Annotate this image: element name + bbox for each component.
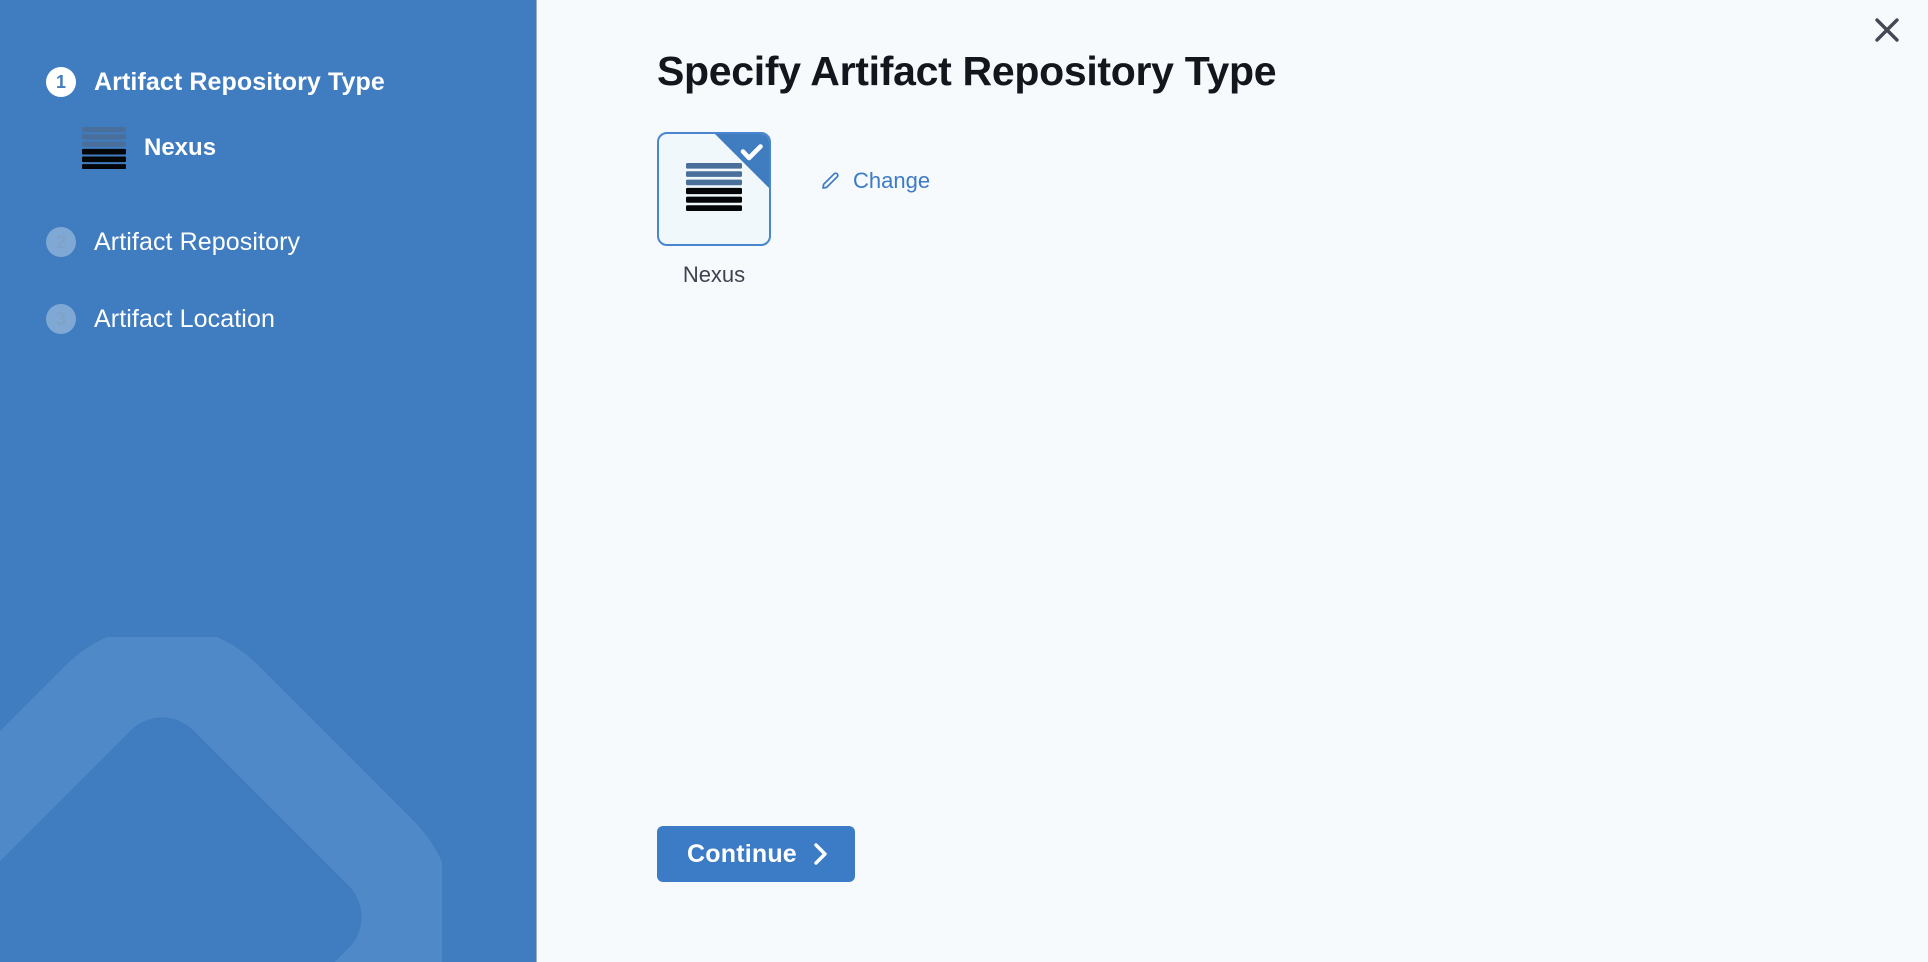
sidebar-step-artifact-repository[interactable]: 2 Artifact Repository — [0, 216, 536, 268]
nexus-type-card[interactable] — [657, 132, 771, 246]
change-button-label: Change — [853, 168, 930, 194]
close-button[interactable] — [1864, 9, 1910, 55]
nexus-type-card-caption: Nexus — [683, 262, 745, 288]
page-title: Specify Artifact Repository Type — [657, 48, 1276, 95]
change-button[interactable]: Change — [819, 168, 930, 194]
sidebar-step-artifact-location[interactable]: 3 Artifact Location — [0, 293, 536, 345]
sidebar-step-label-3: Artifact Location — [94, 305, 275, 334]
sidebar-step-label-2: Artifact Repository — [94, 228, 300, 257]
repository-type-option-nexus: Nexus — [657, 132, 771, 288]
sidebar-step-artifact-repository-type[interactable]: 1 Artifact Repository Type — [0, 56, 536, 108]
repository-type-selection: Nexus Change — [657, 132, 930, 288]
nexus-logo-icon — [82, 127, 126, 169]
sidebar-step-label-1: Artifact Repository Type — [94, 68, 385, 97]
wizard-sidebar: 1 Artifact Repository Type Nexus — [0, 0, 537, 962]
continue-button[interactable]: Continue — [657, 826, 855, 882]
step-number-badge-1: 1 — [46, 67, 76, 97]
chevron-right-icon — [813, 842, 829, 866]
decorative-watermark — [0, 637, 442, 962]
close-icon — [1874, 17, 1900, 48]
step-number-badge-2: 2 — [46, 227, 76, 257]
step-number-badge-3: 3 — [46, 304, 76, 334]
artifact-repository-wizard: 1 Artifact Repository Type Nexus — [0, 0, 1928, 962]
sidebar-substep-label-nexus: Nexus — [144, 134, 216, 162]
wizard-content-panel: Specify Artifact Repository Type — [537, 0, 1928, 962]
sidebar-substep-nexus[interactable]: Nexus — [0, 120, 536, 176]
wizard-step-list: 1 Artifact Repository Type Nexus — [0, 0, 536, 345]
pencil-icon — [819, 170, 841, 192]
nexus-logo-icon — [686, 163, 742, 216]
continue-button-label: Continue — [687, 840, 797, 869]
